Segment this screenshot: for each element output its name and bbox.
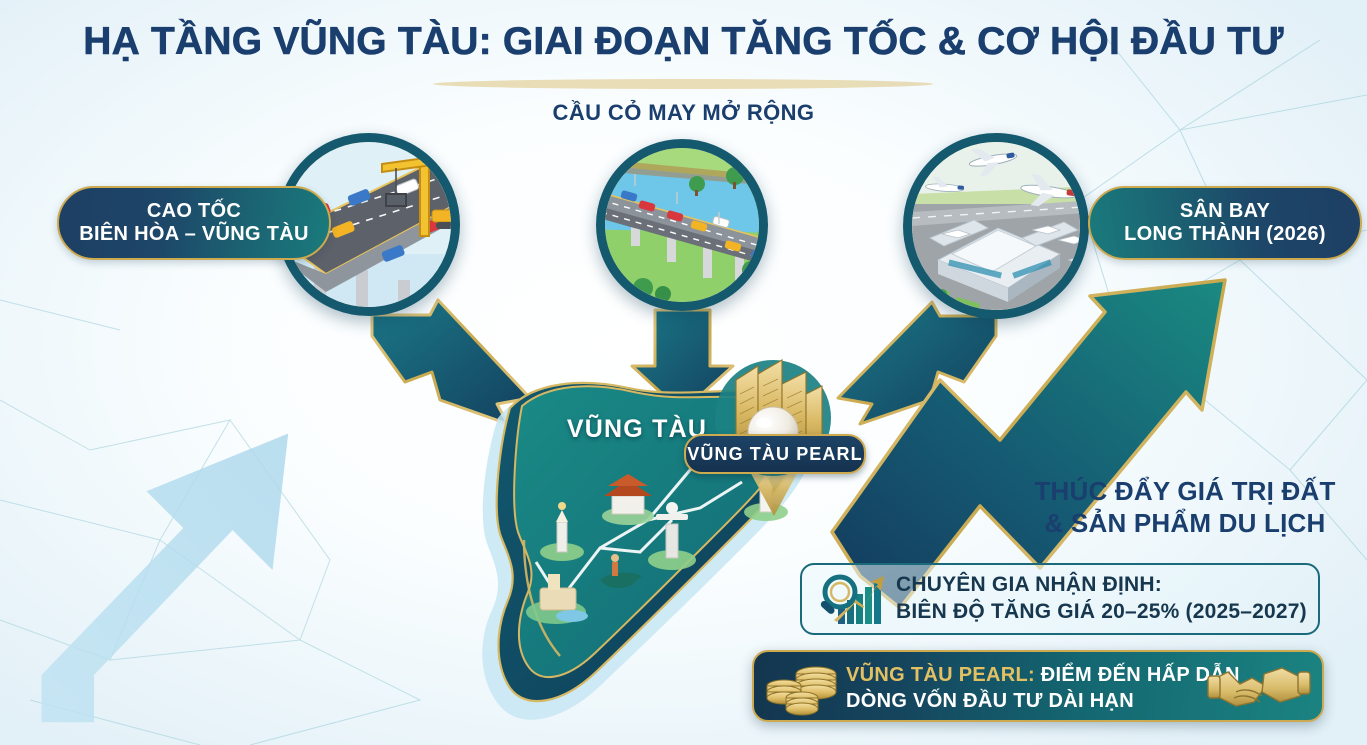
- banner-line1: VŨNG TÀU PEARL: ĐIỂM ĐẾN HẤP DẪN: [846, 662, 1246, 688]
- title-underline-glow: [433, 79, 933, 89]
- bridge-over-river-circle: [596, 139, 768, 311]
- airport-terminal-circle: [903, 133, 1089, 319]
- vung-tau-pearl-logo[interactable]: [688, 340, 858, 505]
- pill-left-line2: BIÊN HÒA – VŨNG TÀU: [79, 223, 308, 246]
- growth-line1: THÚC ĐẨY GIÁ TRỊ ĐẤT: [1020, 476, 1350, 508]
- growth-arrow: [832, 280, 1225, 608]
- growth-line2: & SẢN PHẨM DU LỊCH: [1020, 508, 1350, 540]
- map-landmark-christ-statue: [648, 502, 696, 570]
- handshake-icon: [1206, 658, 1314, 720]
- bar-chart-bars: [838, 580, 881, 624]
- growth-caption: THÚC ĐẨY GIÁ TRỊ ĐẤT & SẢN PHẨM DU LỊCH: [1020, 476, 1350, 539]
- coin-stack-mid: [786, 692, 818, 715]
- expert-line2: BIÊN ĐỘ TĂNG GIÁ 20–25% (2025–2027): [896, 599, 1307, 626]
- callout-label-cau-co-may: CẦU CỎ MAY MỞ RỘNG: [0, 100, 1367, 126]
- map-landmark-boat: [600, 554, 642, 588]
- expert-line1: CHUYÊN GIA NHẬN ĐỊNH:: [896, 572, 1307, 599]
- expert-opinion-callout: CHUYÊN GIA NHẬN ĐỊNH: BIÊN ĐỘ TĂNG GIÁ 2…: [800, 563, 1320, 635]
- map-landmark-temple: [602, 474, 654, 525]
- banner-highlight: VŨNG TÀU PEARL:: [846, 664, 1035, 686]
- polygon-network-left: [0, 300, 420, 745]
- map-landmark-lighthouse: [540, 502, 584, 561]
- expert-opinion-text: CHUYÊN GIA NHẬN ĐỊNH: BIÊN ĐỘ TĂNG GIÁ 2…: [896, 572, 1307, 626]
- bridge-illustration: [605, 148, 759, 302]
- magnifier-bar-chart-icon: [816, 570, 884, 628]
- callout-pill-san-bay[interactable]: SÂN BAY LONG THÀNH (2026): [1088, 186, 1362, 260]
- airport-illustration: [912, 142, 1080, 310]
- banner-text: VŨNG TÀU PEARL: ĐIỂM ĐẾN HẤP DẪN DÒNG VỐ…: [846, 662, 1246, 714]
- gold-coins-icon: [764, 658, 844, 720]
- arrow-right-to-map: [838, 302, 996, 424]
- background-arrow-decor: [42, 433, 289, 722]
- infographic-canvas: HẠ TẦNG VŨNG TÀU: GIAI ĐOẠN TĂNG TỐC & C…: [0, 0, 1367, 745]
- map-pin-label-vung-tau-pearl[interactable]: VŨNG TÀU PEARL: [684, 434, 866, 474]
- pill-left-line1: CAO TỐC: [147, 200, 241, 223]
- pill-right-line2: LONG THÀNH (2026): [1124, 223, 1326, 246]
- banner-line2: DÒNG VỐN ĐẦU TƯ DÀI HẠN: [846, 688, 1246, 714]
- map-landmark-resort: [526, 574, 588, 624]
- bottom-banner[interactable]: VŨNG TÀU PEARL: ĐIỂM ĐẾN HẤP DẪN DÒNG VỐ…: [752, 650, 1324, 722]
- callout-pill-cao-toc[interactable]: CAO TỐC BIÊN HÒA – VŨNG TÀU: [57, 186, 331, 260]
- pill-right-line1: SÂN BAY: [1180, 200, 1270, 223]
- arrow-left-to-map: [372, 300, 530, 424]
- page-title: HẠ TẦNG VŨNG TÀU: GIAI ĐOẠN TĂNG TỐC & C…: [0, 20, 1367, 64]
